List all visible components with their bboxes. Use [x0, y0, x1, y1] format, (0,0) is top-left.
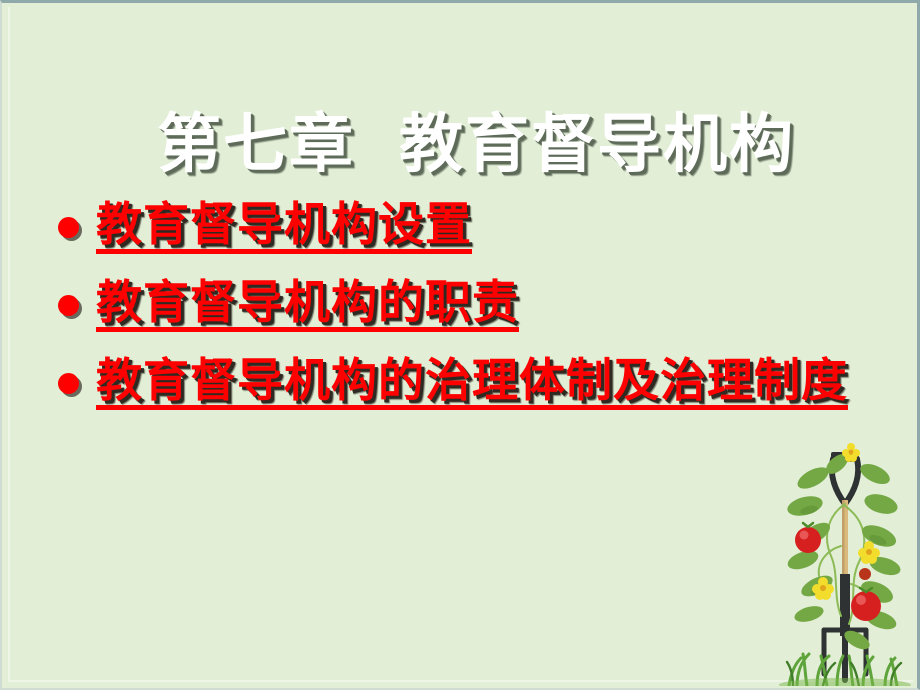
bullet-dot-icon [58, 217, 79, 238]
list-item-label: 教育督导机构设置 [96, 197, 472, 254]
list-item[interactable]: 教育督导机构的治理体制及治理制度 [50, 351, 870, 411]
slide-title-chapter: 第七章 [157, 108, 355, 182]
list-item-label: 教育督导机构的治理体制及治理制度 [96, 353, 848, 410]
list-item[interactable]: 教育督导机构设置 [50, 195, 870, 255]
presentation-slide: 第七章教育督导机构 教育督导机构设置 教育督导机构的职责 教育督导机构的治理体制… [0, 0, 920, 690]
tomato-plant-decoration [779, 434, 911, 686]
slide-title-subject: 教育督导机构 [399, 108, 795, 182]
bullet-dot-icon [58, 373, 79, 394]
slide-bullet-list: 教育督导机构设置 教育督导机构的职责 教育督导机构的治理体制及治理制度 [50, 195, 870, 410]
list-item-label: 教育督导机构的职责 [96, 275, 519, 332]
bullet-dot-icon [58, 295, 79, 316]
slide-title: 第七章教育督导机构 [2, 112, 920, 179]
list-item[interactable]: 教育督导机构的职责 [50, 273, 870, 333]
